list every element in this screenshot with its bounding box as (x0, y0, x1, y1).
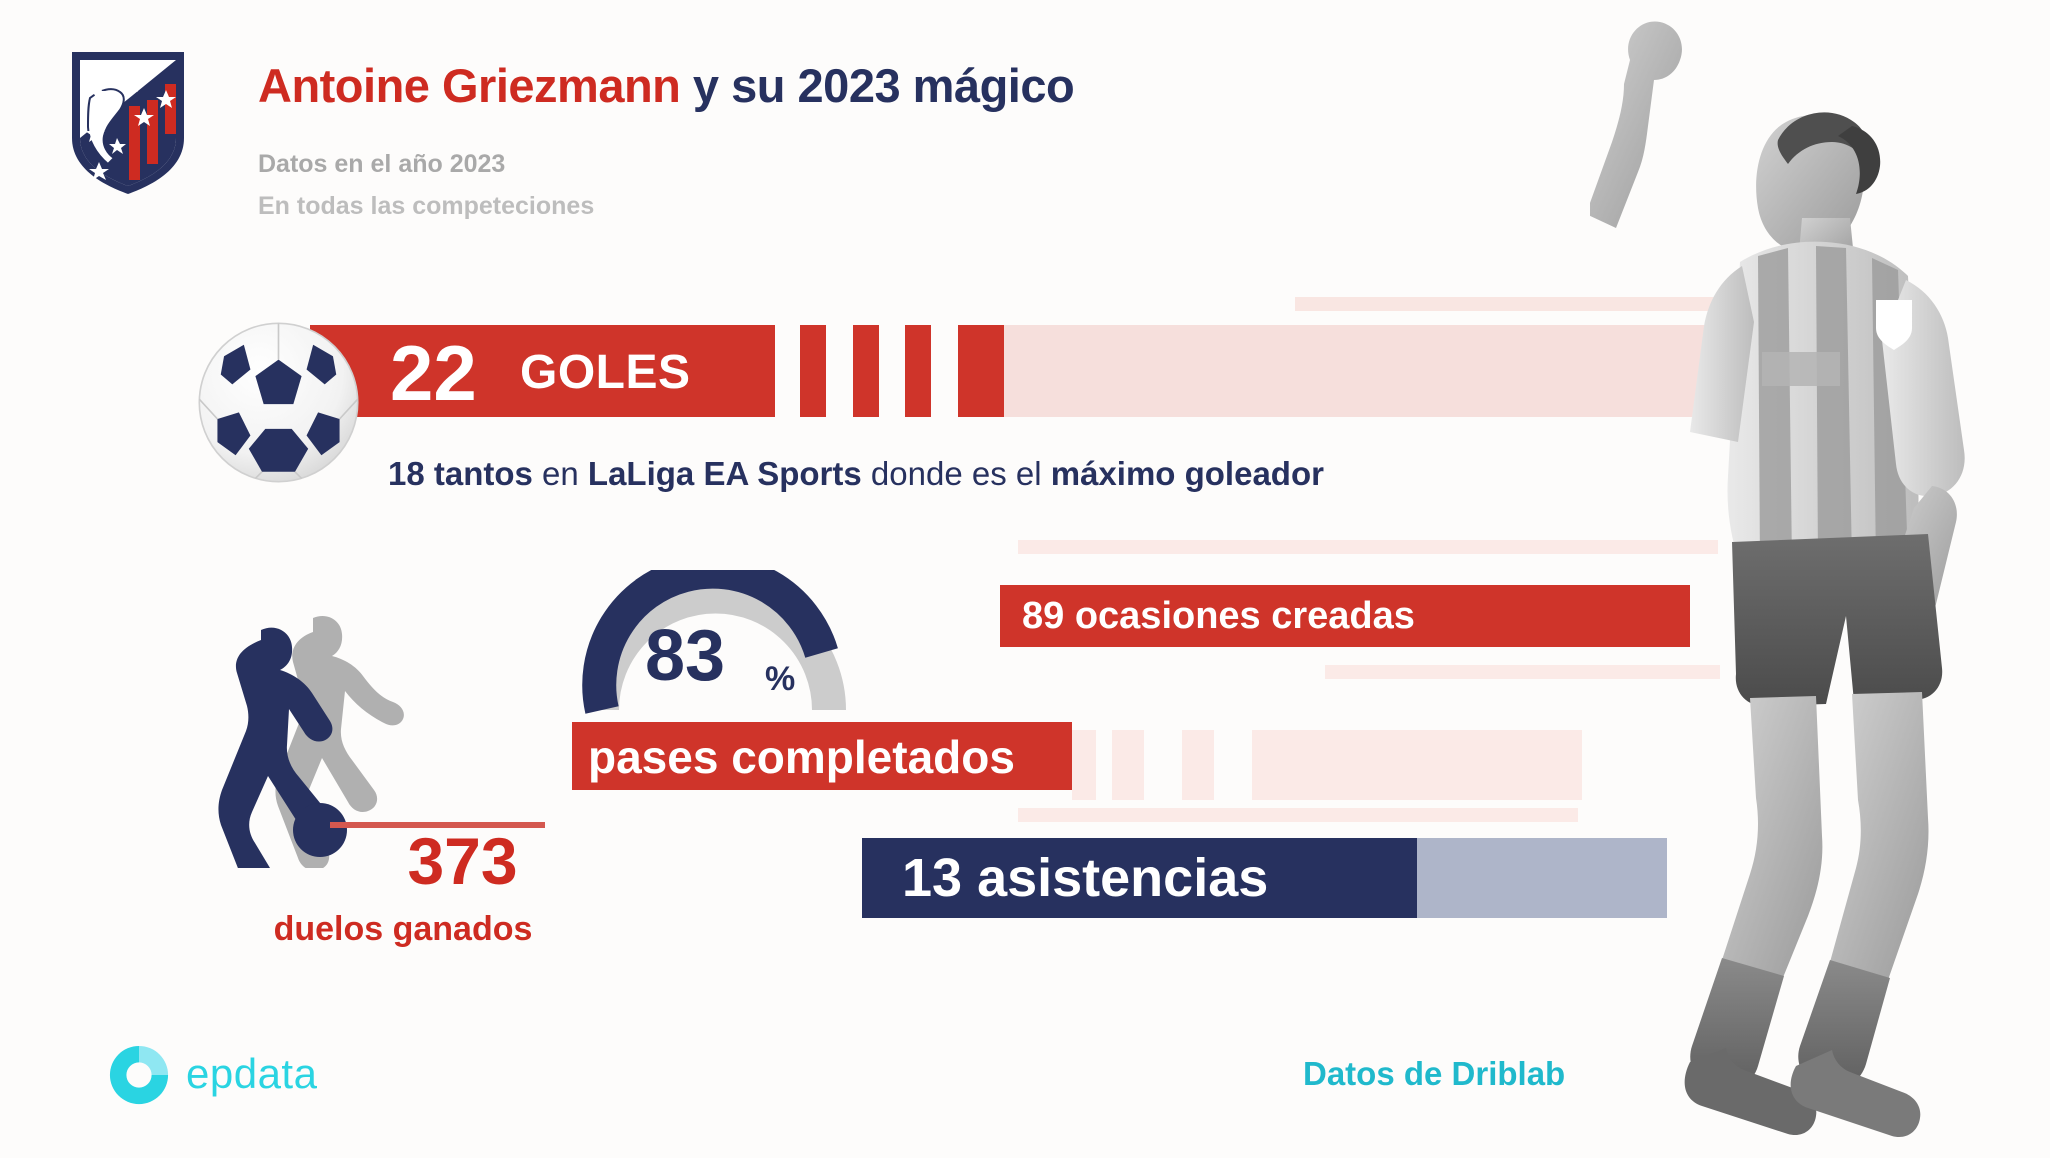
goals-caption-donde: donde es el (862, 455, 1051, 492)
infographic-canvas: Antoine Griezmann y su 2023 mágico Datos… (0, 0, 2050, 1158)
goals-caption-laliga: LaLiga EA Sports (588, 455, 862, 492)
decorative-stripe (1072, 730, 1096, 800)
goals-caption-maximo: máximo goleador (1051, 455, 1324, 492)
soccer-ball-icon (196, 320, 361, 485)
duels-value: 373 (370, 828, 555, 894)
passes-percent-symbol: % (765, 660, 795, 699)
goals-caption-tantos: 18 tantos (388, 455, 533, 492)
decorative-stripe (1018, 808, 1578, 822)
data-source: Datos de Driblab (1303, 1055, 1565, 1093)
epdata-logo-text: epdata (186, 1050, 317, 1098)
decorative-stripe (1252, 730, 1582, 800)
goals-unit: GOLES (520, 345, 691, 400)
goals-value: 22 (390, 327, 477, 419)
decorative-stripe (800, 325, 826, 417)
title-suffix: y su 2023 mágico (680, 59, 1074, 112)
passes-label: pases completados (588, 729, 1015, 785)
chances-label: 89 ocasiones creadas (1022, 592, 1415, 640)
goals-caption: 18 tantos en LaLiga EA Sports donde es e… (388, 455, 1324, 493)
griezmann-celebration-photo (1590, 0, 2050, 1158)
title-player-name: Antoine Griezmann (258, 59, 680, 112)
passes-value: 83 (645, 620, 725, 692)
page-title: Antoine Griezmann y su 2023 mágico (258, 62, 1074, 109)
epdata-donut-logo-icon (108, 1044, 170, 1106)
decorative-stripe (853, 325, 879, 417)
assists-label: 13 asistencias (902, 845, 1268, 911)
subtitle-period: Datos en el año 2023 (258, 150, 505, 179)
duels-label: duelos ganados (248, 910, 558, 949)
subtitle-scope: En todas las competeciones (258, 192, 594, 221)
goals-caption-en: en (533, 455, 588, 492)
atletico-madrid-crest-icon (68, 44, 188, 194)
decorative-stripe (1182, 730, 1214, 800)
decorative-stripe (905, 325, 931, 417)
decorative-stripe (958, 325, 1004, 417)
decorative-stripe (1112, 730, 1144, 800)
